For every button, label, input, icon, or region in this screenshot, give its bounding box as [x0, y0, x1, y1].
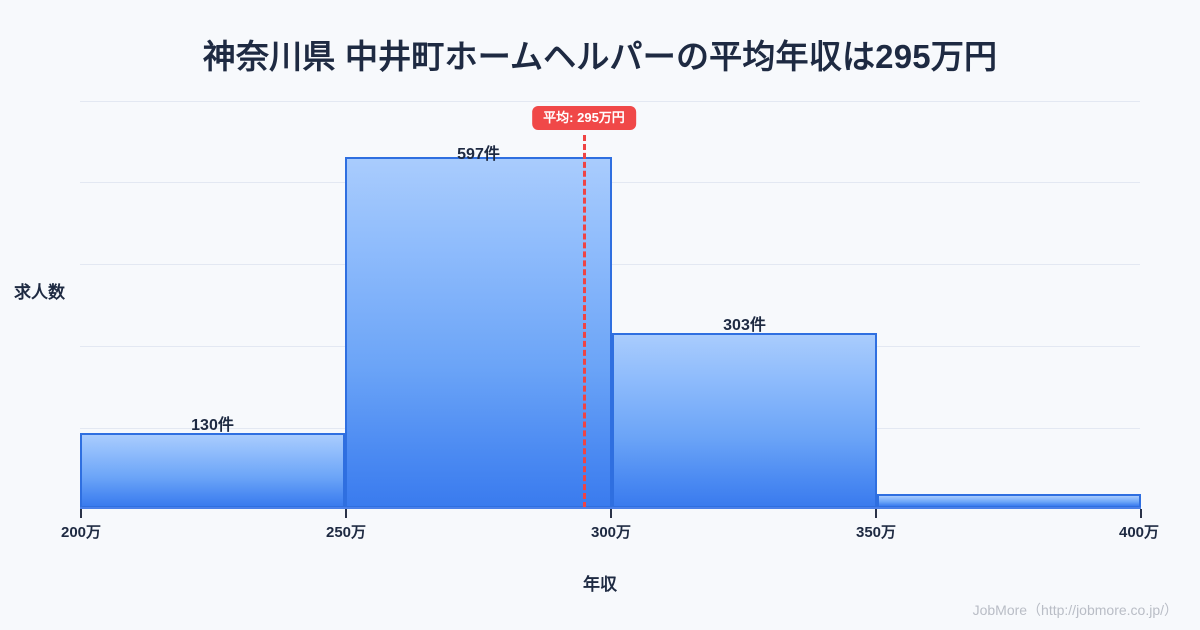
bar-value-label: 130件: [80, 411, 345, 435]
x-tick-label-300: 300万: [591, 521, 631, 542]
bar-bin-3[interactable]: [612, 333, 877, 508]
x-tick-label-350: 350万: [856, 521, 896, 542]
chart-container: 神奈川県 中井町ホームヘルパーの平均年収は295万円 130件 597件 303…: [0, 0, 1200, 630]
bar-bin-2[interactable]: [345, 157, 612, 508]
x-tick-label-250: 250万: [326, 521, 366, 542]
x-tick-label-200: 200万: [61, 521, 101, 542]
bar-bin-4[interactable]: [877, 494, 1141, 508]
x-tick-mark: [875, 509, 877, 518]
x-tick-mark: [610, 509, 612, 518]
y-axis-title: 求人数: [14, 278, 65, 303]
x-tick-mark: [345, 509, 347, 518]
x-tick-mark: [1140, 509, 1142, 518]
footer-credit: JobMore（http://jobmore.co.jp/）: [973, 600, 1178, 620]
average-label-badge: 平均: 295万円: [532, 106, 636, 130]
x-axis-title: 年収: [0, 570, 1200, 595]
x-tick-mark: [80, 509, 82, 518]
bar-bin-1[interactable]: [80, 433, 345, 508]
bar-value-label: 597件: [345, 140, 612, 164]
average-line: [583, 135, 586, 508]
gridline: [80, 101, 1140, 102]
x-tick-label-400: 400万: [1119, 521, 1159, 542]
chart-title: 神奈川県 中井町ホームヘルパーの平均年収は295万円: [0, 30, 1200, 78]
bar-value-label: 303件: [612, 311, 877, 335]
